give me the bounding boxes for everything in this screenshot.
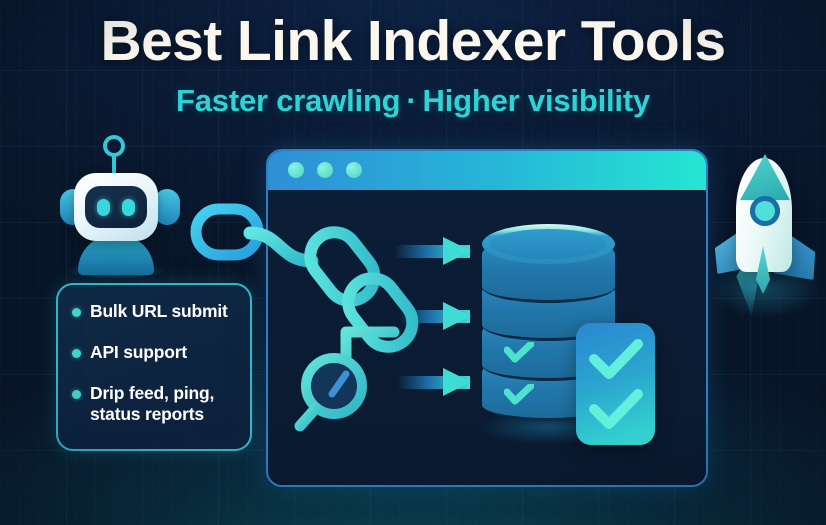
- subtitle-left: Faster crawling: [176, 83, 400, 118]
- poster-canvas: Best Link Indexer Tools Faster crawling·…: [0, 0, 826, 525]
- magnifying-glass-icon: [286, 310, 416, 440]
- bullet-icon: [72, 390, 81, 399]
- feature-label: API support: [90, 342, 187, 363]
- feature-label: Bulk URL submit: [90, 301, 228, 322]
- rocket-icon: [712, 150, 816, 315]
- database-check-2-icon: [504, 384, 534, 406]
- feature-list-panel: Bulk URL submit API support Drip feed, p…: [56, 283, 252, 451]
- bullet-icon: [72, 349, 81, 358]
- robot-body: [78, 235, 154, 275]
- card-check-2-icon: [588, 389, 644, 431]
- robot-eye-left: [97, 199, 110, 216]
- window-dot-maximize-icon[interactable]: [346, 162, 362, 178]
- robot-head: [74, 173, 158, 241]
- subtitle-right: Higher visibility: [423, 83, 650, 118]
- feature-item-0: Bulk URL submit: [72, 301, 228, 322]
- feature-label: Drip feed, ping, status reports: [90, 383, 214, 425]
- browser-window-dots[interactable]: [288, 162, 362, 178]
- feature-item-2: Drip feed, ping, status reports: [72, 383, 214, 425]
- bullet-icon: [72, 308, 81, 317]
- feature-item-1: API support: [72, 342, 187, 363]
- verified-checks-card: [576, 323, 655, 445]
- card-check-1-icon: [588, 339, 644, 381]
- page-title: Best Link Indexer Tools: [0, 8, 826, 74]
- robot-antenna-ring: [103, 135, 125, 157]
- database-check-1-icon: [504, 342, 534, 364]
- robot-eye-right: [122, 199, 135, 216]
- browser-title-bar: [268, 151, 706, 190]
- rocket-porthole: [750, 196, 780, 226]
- database-top-disc: [482, 224, 615, 264]
- robot-mascot-icon: [58, 135, 182, 275]
- page-subtitle: Faster crawling·Higher visibility: [0, 82, 826, 120]
- window-dot-close-icon[interactable]: [288, 162, 304, 178]
- subtitle-separator: ·: [400, 83, 422, 118]
- robot-visor: [85, 186, 147, 228]
- window-dot-minimize-icon[interactable]: [317, 162, 333, 178]
